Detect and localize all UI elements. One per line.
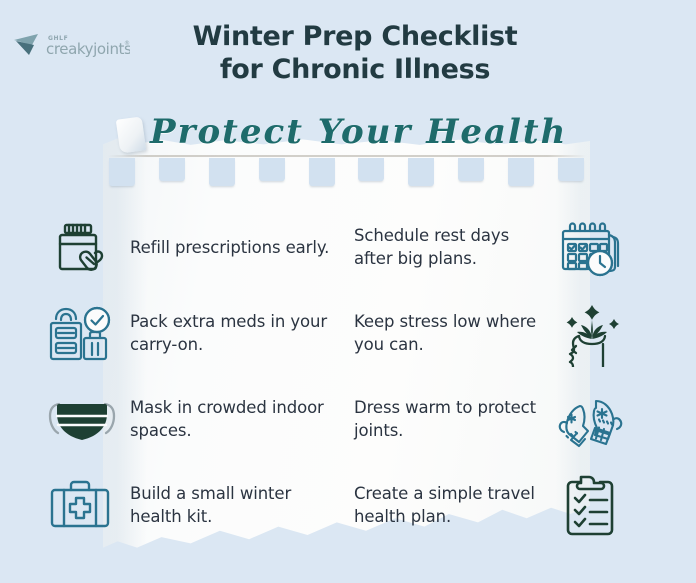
paper-curl-corner [116, 116, 146, 153]
checklist-item: Keep stress low where you can. [350, 291, 660, 377]
script-heading: Protect Your Health [150, 112, 550, 152]
checklist-item: Create a simple travel health plan. [350, 463, 660, 549]
checklist-item-text: Schedule rest days after big plans. [354, 225, 544, 271]
checklist-item: Build a small winter health kit. [40, 463, 350, 549]
svg-text:creakyjoints: creakyjoints [46, 40, 130, 58]
checklist-item: Mask in crowded indoor spaces. [40, 377, 350, 463]
checklist-item: Dress warm to protect joints. [350, 377, 660, 463]
pill-bottle-icon [44, 213, 120, 283]
calendar-clock-icon [554, 213, 630, 283]
checklist-item-text: Build a small winter health kit. [130, 483, 330, 529]
checklist-item: Refill prescriptions early. [40, 205, 350, 291]
mittens-snowflake-icon [554, 385, 630, 455]
page-title: Winter Prep Checklist for Chronic Illnes… [120, 20, 590, 86]
checklist-item-text: Dress warm to protect joints. [354, 397, 544, 443]
head-plant-sparkle-icon [554, 299, 630, 369]
checklist-item-text: Refill prescriptions early. [130, 237, 330, 260]
checklist-grid: Refill prescriptions early. Schedule res… [40, 205, 660, 550]
first-aid-kit-icon [44, 471, 120, 541]
title-line-2: for Chronic Illness [120, 53, 590, 86]
checklist-item-text: Mask in crowded indoor spaces. [130, 397, 330, 443]
clipboard-checklist-icon [554, 471, 630, 541]
checklist-item-text: Create a simple travel health plan. [354, 483, 544, 529]
logo-arrow-mark [14, 34, 38, 55]
checklist-item: Pack extra meds in your carry-on. [40, 291, 350, 377]
paper-tear-line [108, 155, 586, 157]
checklist-item: Schedule rest days after big plans. [350, 205, 660, 291]
infographic-canvas: GHLF creakyjoints ® Winter Prep Checklis… [0, 0, 696, 583]
creakyjoints-logo: GHLF creakyjoints ® [12, 28, 130, 62]
checklist-item-text: Pack extra meds in your carry-on. [130, 311, 330, 357]
face-mask-icon [44, 385, 120, 455]
checklist-item-text: Keep stress low where you can. [354, 311, 544, 357]
title-line-1: Winter Prep Checklist [120, 20, 590, 53]
backpack-luggage-check-icon [44, 299, 120, 369]
